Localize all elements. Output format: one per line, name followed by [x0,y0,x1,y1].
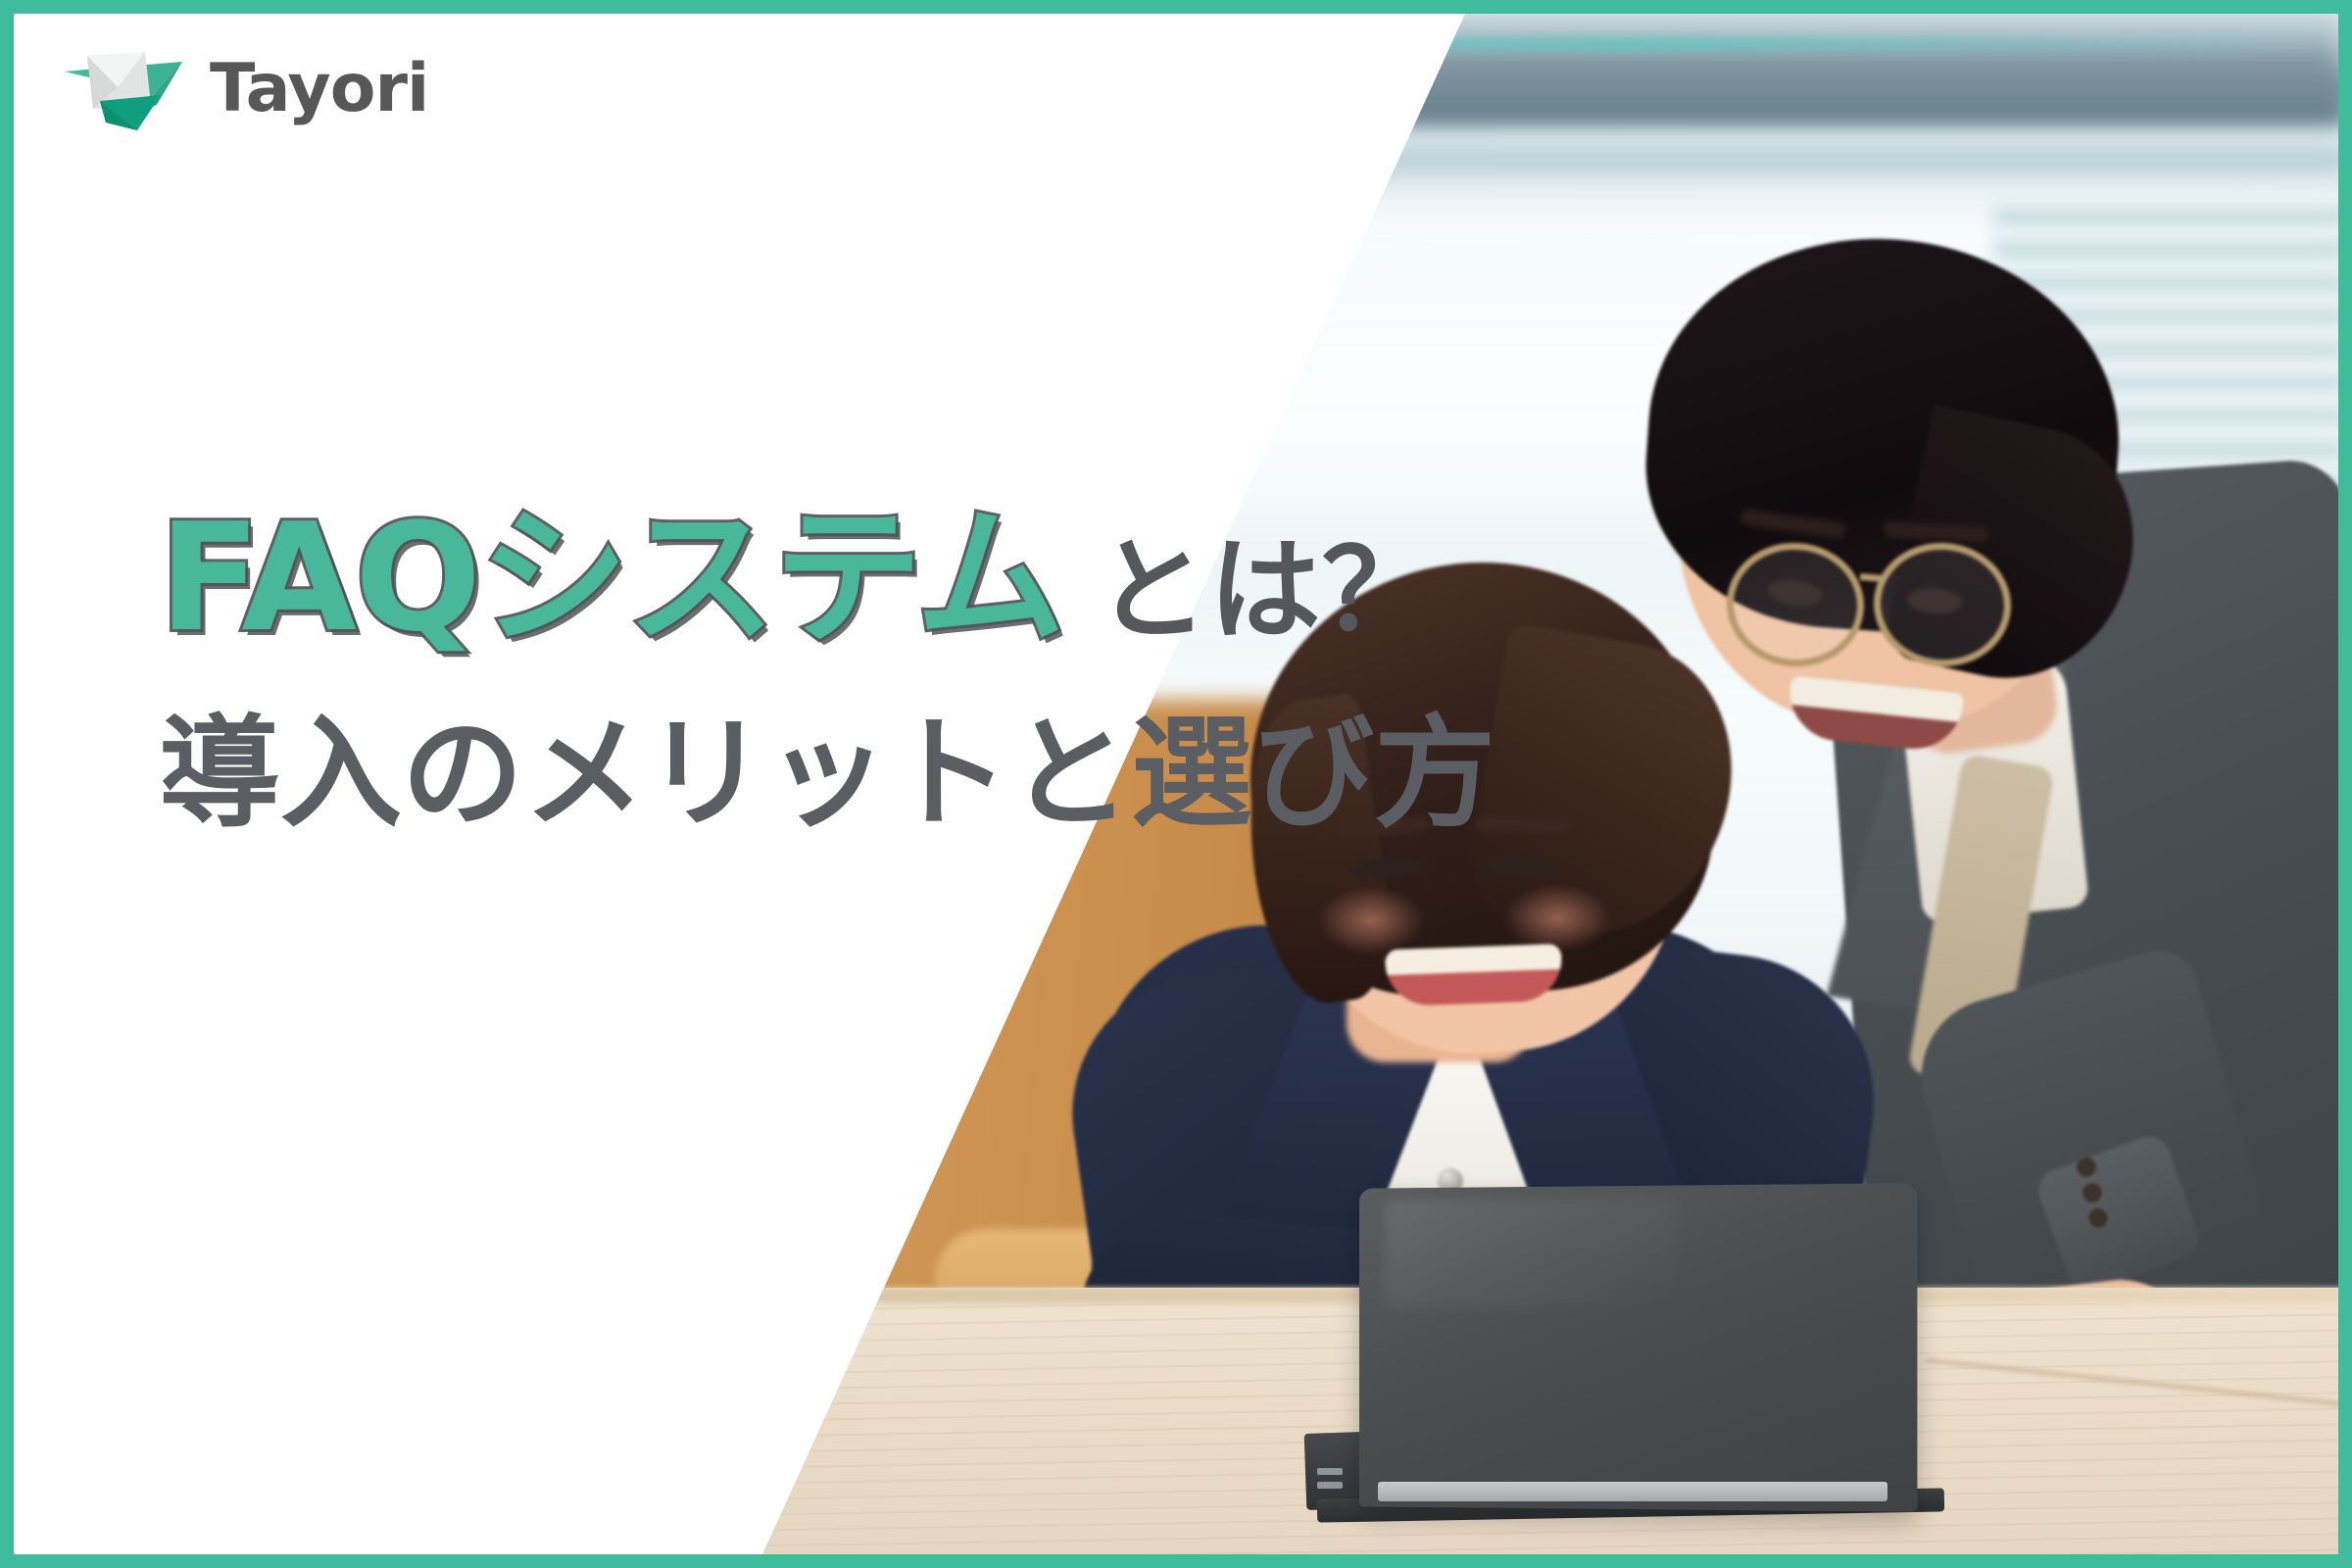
window-mullion-lower [994,151,2338,176]
window-mullion-upper [974,69,2338,125]
brand-wordmark: Tayori [210,56,428,122]
banner-canvas: Tayori FAQシステム とは？ 導入のメリットと選び方 [14,14,2338,1554]
laptop-port [1317,1468,1343,1475]
headline-block: FAQシステム とは？ 導入のメリットと選び方 [159,504,1394,835]
laptop-lid-reflection [1384,1200,1678,1307]
woman-cheek-right [1503,884,1611,953]
brand-logo[interactable]: Tayori [63,35,428,143]
headline-line-1: FAQシステム とは？ [159,504,1394,653]
laptop-port [1317,1482,1343,1489]
headline-keyword: FAQシステム [159,504,1063,653]
man-cuff-button [2082,1182,2103,1203]
laptop-hinge-bar [1378,1482,1887,1501]
headline-tail: とは？ [1097,535,1435,647]
woman-teeth [1385,944,1562,975]
banner-frame: Tayori FAQシステム とは？ 導入のメリットと選び方 [0,0,2352,1568]
man-cuff-button [2087,1207,2109,1229]
man-cuff-button [2076,1156,2097,1178]
paper-plane-envelope-icon [63,44,192,134]
window-teal-reflection [896,37,2338,51]
woman-smiling-mouth [1385,944,1563,1006]
woman-cheek-left [1317,886,1425,955]
headline-subline: 導入のメリットと選び方 [159,713,1394,835]
